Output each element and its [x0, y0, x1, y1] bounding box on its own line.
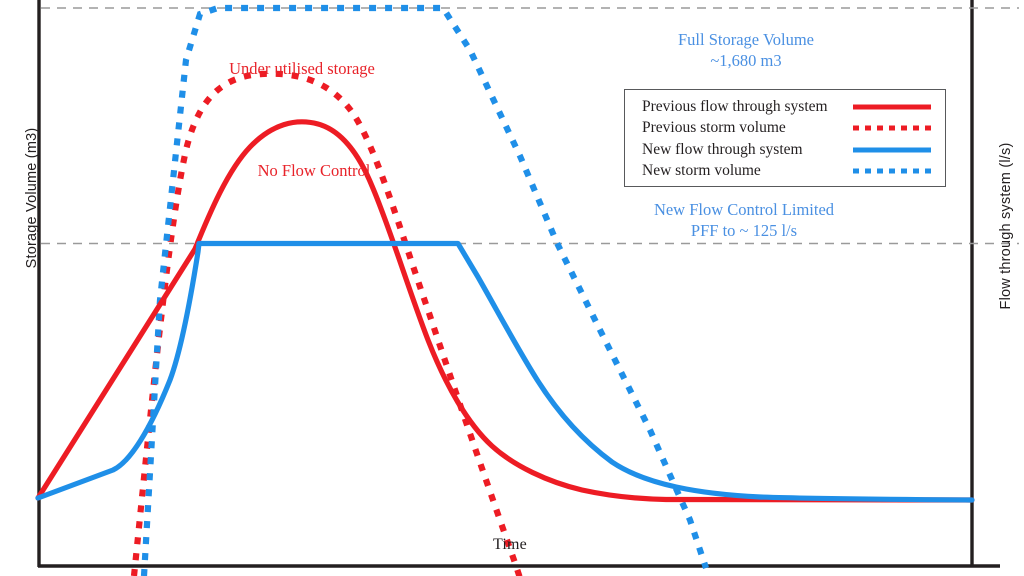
- annotation-new-flow-control-line2: PFF to ~ 125 l/s: [594, 220, 894, 241]
- chart-legend: Previous flow through system Previous st…: [624, 89, 946, 187]
- legend-swatch-solid-red: [853, 100, 931, 114]
- annotation-no-flow-control: No Flow Control: [194, 160, 434, 181]
- legend-item-previous-flow: Previous flow through system: [625, 96, 945, 118]
- series-previous-storm-volume: [134, 74, 520, 576]
- y-axis-label-left: Storage Volume (m3): [24, 103, 40, 293]
- annotation-full-storage-volume: Full Storage Volume ~1,680 m3: [616, 29, 876, 71]
- series-new-flow: [38, 244, 972, 501]
- x-axis-label: Time: [455, 536, 565, 554]
- legend-swatch-solid-blue: [853, 143, 931, 157]
- legend-item-previous-storm: Previous storm volume: [625, 118, 945, 140]
- annotation-new-flow-control: New Flow Control Limited PFF to ~ 125 l/…: [594, 199, 894, 241]
- annotation-under-utilised-storage: Under utilised storage: [182, 58, 422, 79]
- legend-swatch-dotted-blue: [853, 164, 931, 178]
- legend-item-new-storm: New storm volume: [625, 161, 945, 183]
- series-new-storm-volume: [144, 8, 706, 576]
- annotation-new-flow-control-line1: New Flow Control Limited: [594, 199, 894, 220]
- legend-swatch-dotted-red: [853, 121, 931, 135]
- legend-label-new-flow: New flow through system: [642, 141, 853, 159]
- annotation-full-storage-line2: ~1,680 m3: [616, 50, 876, 71]
- legend-label-new-storm: New storm volume: [642, 162, 853, 180]
- axis-frame: [38, 0, 1000, 567]
- legend-item-new-flow: New flow through system: [625, 139, 945, 161]
- annotation-full-storage-line1: Full Storage Volume: [616, 29, 876, 50]
- legend-label-previous-flow: Previous flow through system: [642, 98, 853, 116]
- chart-canvas: [0, 0, 1024, 576]
- y-axis-label-right: Flow through system (l/s): [998, 131, 1014, 321]
- chart-root: Storage Volume (m3) Flow through system …: [0, 0, 1024, 576]
- legend-label-previous-storm: Previous storm volume: [642, 119, 853, 137]
